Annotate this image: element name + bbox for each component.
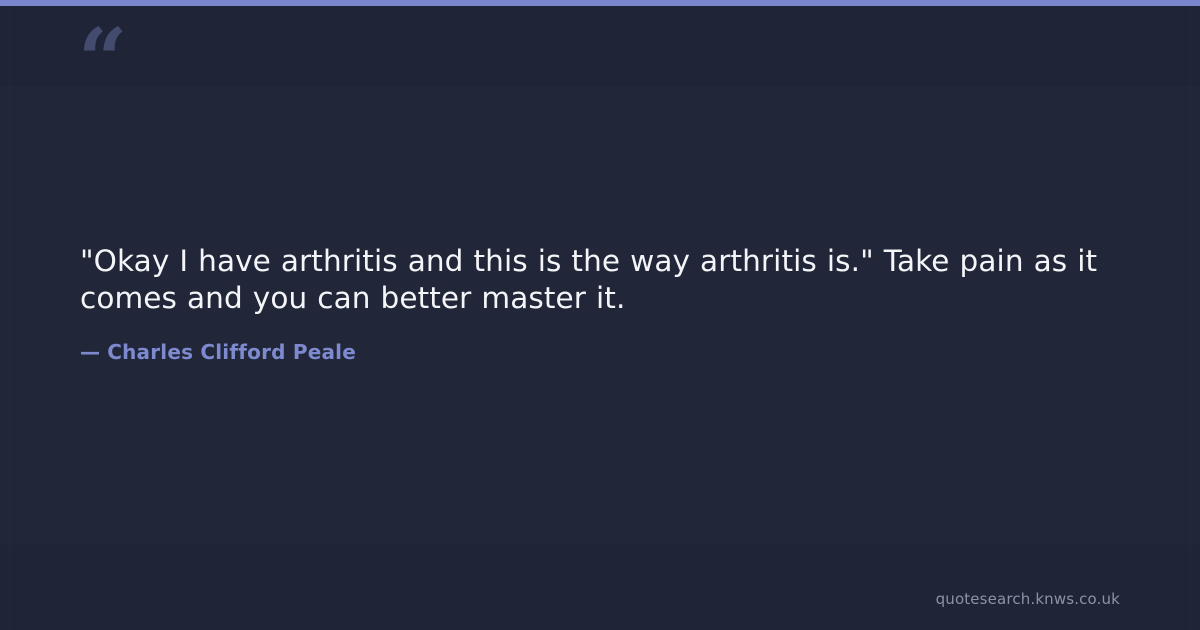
background-edge-left: [9, 0, 10, 630]
attribution-author: Charles Clifford Peale: [107, 340, 356, 364]
top-accent-bar: [0, 0, 1200, 6]
background-edge-right: [1190, 0, 1191, 630]
quote-text: "Okay I have arthritis and this is the w…: [80, 243, 1100, 317]
quote-attribution: —Charles Clifford Peale: [80, 340, 356, 364]
attribution-dash: —: [80, 340, 100, 364]
site-watermark: quotesearch.knws.co.uk: [936, 590, 1120, 608]
quotation-mark-icon: “: [78, 18, 125, 104]
background-band-bottom: [0, 545, 1200, 630]
quote-body: "Okay I have arthritis and this is the w…: [80, 243, 1100, 317]
quote-card: “ "Okay I have arthritis and this is the…: [0, 0, 1200, 630]
background-band-top: [0, 0, 1200, 86]
